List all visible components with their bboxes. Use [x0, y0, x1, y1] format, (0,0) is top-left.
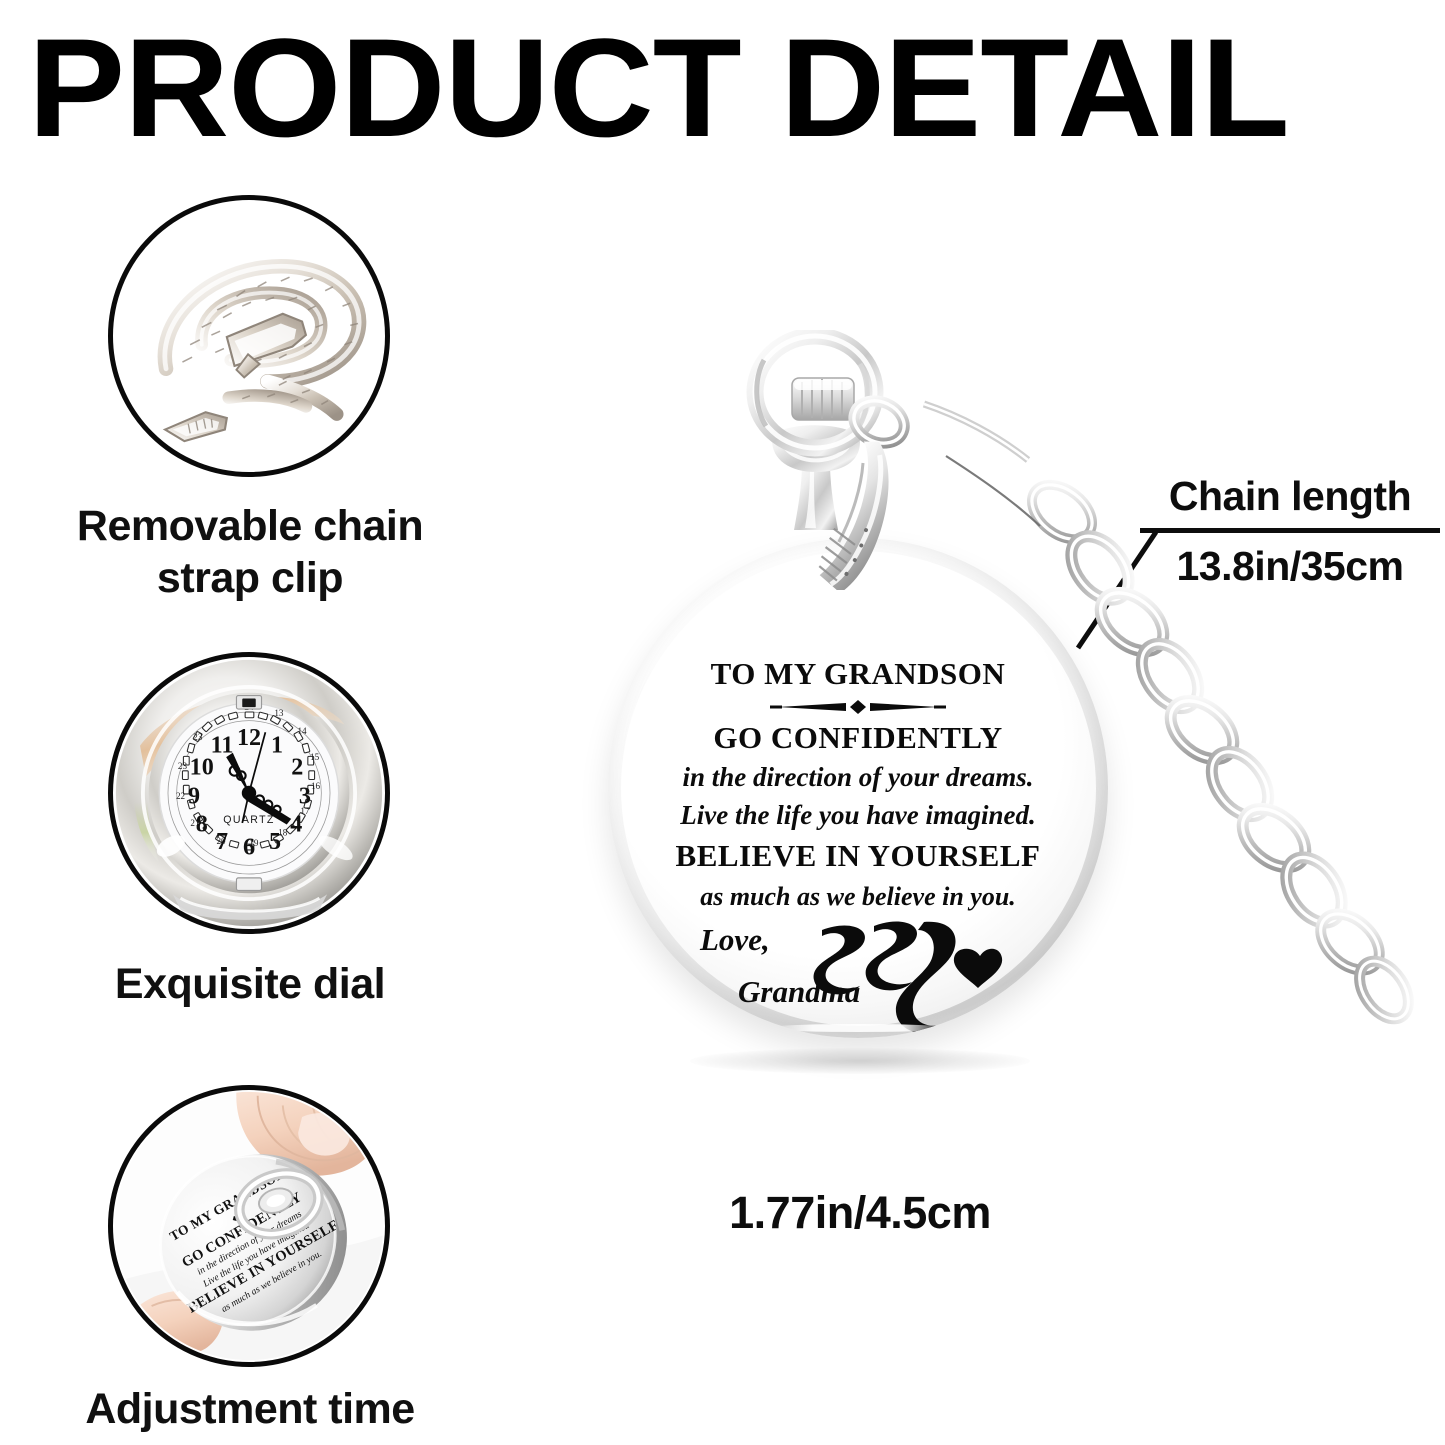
svg-text:22: 22: [176, 791, 186, 801]
svg-text:4: 4: [290, 812, 302, 838]
svg-text:23: 23: [193, 732, 203, 742]
svg-text:1: 1: [271, 732, 283, 758]
page-title: PRODUCT DETAIL: [28, 18, 1445, 158]
svg-text:2: 2: [291, 755, 303, 781]
chain-coil-icon: [113, 200, 385, 472]
hand-holding-watch-icon: TO MY GRANDSON ◆ GO CONFIDENTLY in the d…: [113, 1090, 385, 1362]
svg-text:10: 10: [190, 755, 214, 781]
feature-caption-dial-line1: Exquisite dial: [0, 958, 500, 1010]
engraving-line-5: BELIEVE IN YOURSELF: [608, 838, 1108, 874]
svg-text:3: 3: [299, 784, 311, 810]
engraving-line-4: Live the life you have imagined.: [608, 800, 1108, 831]
svg-text:11: 11: [211, 732, 234, 758]
engraving-text: TO MY GRANDSON GO CONFIDENTLY in the dir…: [608, 538, 1108, 1038]
case-bottom-rim: [768, 1024, 948, 1032]
svg-text:6: 6: [243, 835, 255, 861]
engraving-line-1: TO MY GRANDSON: [608, 656, 1108, 692]
dial-brand-text: QUARTZ: [223, 814, 274, 826]
dial-thumbnail: 24 13 14 15 16 17 18 19 20 21 22 23 23 1…: [108, 652, 390, 934]
engraving-line-2: GO CONFIDENTLY: [608, 720, 1108, 756]
feature-caption-chain-line2: strap clip: [0, 552, 500, 604]
svg-text:14: 14: [297, 726, 307, 736]
feature-caption-chain: Removable chain strap clip: [0, 500, 500, 604]
swirl-hearts-icon: [608, 906, 1108, 1038]
svg-text:5: 5: [269, 829, 281, 855]
product-detail-page: PRODUCT DETAIL: [0, 0, 1445, 1445]
svg-text:12: 12: [237, 725, 261, 751]
bow-and-clasp-icon: [710, 330, 1130, 590]
watch-dial-icon: 24 13 14 15 16 17 18 19 20 21 22 23 23 1…: [113, 657, 385, 929]
ornamental-divider-icon: [608, 696, 1108, 718]
svg-text:23: 23: [178, 761, 188, 771]
svg-text:15: 15: [310, 752, 320, 762]
feature-caption-adjustment-line1: Adjustment time: [0, 1383, 500, 1435]
svg-text:9: 9: [188, 784, 200, 810]
case-shadow: [690, 1048, 1030, 1074]
engraving-line-3: in the direction of your dreams.: [608, 762, 1108, 793]
product-image: TO MY GRANDSON GO CONFIDENTLY in the dir…: [560, 330, 1420, 1160]
svg-text:16: 16: [311, 781, 321, 791]
svg-text:7: 7: [216, 829, 228, 855]
feature-caption-adjustment: Adjustment time: [0, 1383, 500, 1435]
adjustment-thumbnail: TO MY GRANDSON ◆ GO CONFIDENTLY in the d…: [108, 1085, 390, 1367]
watch-case: TO MY GRANDSON GO CONFIDENTLY in the dir…: [608, 538, 1108, 1038]
svg-text:8: 8: [196, 812, 208, 838]
feature-caption-chain-line1: Removable chain: [0, 500, 500, 552]
diameter-label: 1.77in/4.5cm: [600, 1186, 1120, 1240]
chain-thumbnail: [108, 195, 390, 477]
svg-text:13: 13: [274, 708, 284, 718]
feature-caption-dial: Exquisite dial: [0, 958, 500, 1010]
